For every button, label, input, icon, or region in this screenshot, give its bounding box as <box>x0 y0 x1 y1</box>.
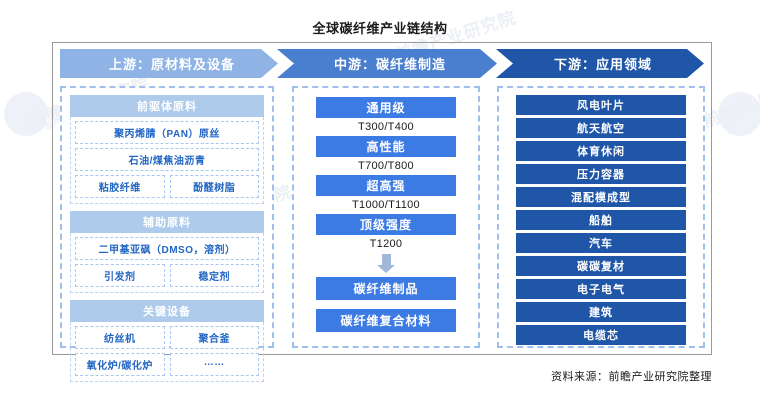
stage-header-row: 上游：原材料及设备 中游：碳纤维制造 下游：应用领域 <box>60 49 705 78</box>
list-item[interactable]: 聚合釜 <box>170 326 260 349</box>
midstream-column: 通用级 T300/T400 高性能 T700/T800 超高强 T1000/T1… <box>292 86 480 348</box>
grade-code: T1000/T1100 <box>316 196 456 214</box>
list-item[interactable]: 电子电气 <box>516 279 686 299</box>
list-item[interactable]: 汽车 <box>516 233 686 253</box>
list-row: 引发剂 稳定剂 <box>75 264 259 287</box>
source-note: 资料来源：前瞻产业研究院整理 <box>551 368 712 384</box>
group-body: 纺丝机 聚合釜 氧化炉/碳化炉 …… <box>70 322 264 382</box>
list-item[interactable]: 船舶 <box>516 210 686 230</box>
downstream-list: 风电叶片 航天航空 体育休闲 压力容器 混配模成型 船舶 汽车 碳碳复材 电子电… <box>499 88 703 345</box>
group-header: 前驱体原料 <box>70 95 264 117</box>
product-bar[interactable]: 碳纤维复合材料 <box>316 309 456 332</box>
list-item[interactable]: 压力容器 <box>516 164 686 184</box>
list-item[interactable]: 酚醛树脂 <box>170 175 260 198</box>
list-item[interactable]: 混配模成型 <box>516 187 686 207</box>
page-title: 全球碳纤维产业链结构 <box>0 18 760 37</box>
list-item[interactable]: 建筑 <box>516 302 686 322</box>
grade-code: T1200 <box>316 235 456 253</box>
grade-bar[interactable]: 通用级 <box>316 97 456 118</box>
downstream-column: 风电叶片 航天航空 体育休闲 压力容器 混配模成型 船舶 汽车 碳碳复材 电子电… <box>497 86 705 348</box>
list-item[interactable]: 航天航空 <box>516 118 686 138</box>
upstream-group-precursor: 前驱体原料 聚丙烯腈（PAN）原丝 石油/煤焦油沥青 粘胶纤维 酚醛树脂 <box>70 95 264 204</box>
list-item[interactable]: 粘胶纤维 <box>75 175 165 198</box>
list-item[interactable]: 聚丙烯腈（PAN）原丝 <box>75 121 259 144</box>
list-row: 氧化炉/碳化炉 …… <box>75 353 259 376</box>
stage-header-upstream-label: 上游：原材料及设备 <box>103 54 235 73</box>
watermark-ring-right <box>718 92 760 136</box>
stage-header-upstream[interactable]: 上游：原材料及设备 <box>60 49 278 78</box>
stage-header-downstream-label: 下游：应用领域 <box>548 54 652 73</box>
list-item[interactable]: 二甲基亚砜（DMSO，溶剂） <box>75 237 259 260</box>
list-item[interactable]: 氧化炉/碳化炉 <box>75 353 165 376</box>
upstream-column: 前驱体原料 聚丙烯腈（PAN）原丝 石油/煤焦油沥青 粘胶纤维 酚醛树脂 辅助原… <box>60 86 274 348</box>
upstream-group-equipment: 关键设备 纺丝机 聚合釜 氧化炉/碳化炉 …… <box>70 300 264 382</box>
list-item[interactable]: 体育休闲 <box>516 141 686 161</box>
list-item[interactable]: 风电叶片 <box>516 95 686 115</box>
list-row: 纺丝机 聚合釜 <box>75 326 259 353</box>
columns-container: 前驱体原料 聚丙烯腈（PAN）原丝 石油/煤焦油沥青 粘胶纤维 酚醛树脂 辅助原… <box>60 86 705 348</box>
arrow-down-icon <box>316 253 456 268</box>
list-item[interactable]: …… <box>170 353 260 376</box>
list-item[interactable]: 纺丝机 <box>75 326 165 349</box>
grade-code: T700/T800 <box>316 157 456 175</box>
stage-header-midstream-label: 中游：碳纤维制造 <box>328 54 446 73</box>
grade-code: T300/T400 <box>316 118 456 136</box>
stage-header-midstream[interactable]: 中游：碳纤维制造 <box>277 49 497 78</box>
list-row: 粘胶纤维 酚醛树脂 <box>75 175 259 198</box>
stage-header-downstream[interactable]: 下游：应用领域 <box>496 49 704 78</box>
watermark-ring-left <box>4 92 48 136</box>
group-header: 关键设备 <box>70 300 264 322</box>
list-item[interactable]: 引发剂 <box>75 264 165 287</box>
list-item[interactable]: 稳定剂 <box>170 264 260 287</box>
group-body: 聚丙烯腈（PAN）原丝 石油/煤焦油沥青 粘胶纤维 酚醛树脂 <box>70 117 264 204</box>
midstream-grades: 通用级 T300/T400 高性能 T700/T800 超高强 T1000/T1… <box>294 88 478 332</box>
grade-bar[interactable]: 高性能 <box>316 136 456 157</box>
grade-bar[interactable]: 顶级强度 <box>316 214 456 235</box>
group-header: 辅助原料 <box>70 211 264 233</box>
group-body: 二甲基亚砜（DMSO，溶剂） 引发剂 稳定剂 <box>70 233 264 293</box>
upstream-group-auxiliary: 辅助原料 二甲基亚砜（DMSO，溶剂） 引发剂 稳定剂 <box>70 211 264 293</box>
list-item[interactable]: 石油/煤焦油沥青 <box>75 148 259 171</box>
list-item[interactable]: 碳碳复材 <box>516 256 686 276</box>
product-bar[interactable]: 碳纤维制品 <box>316 277 456 300</box>
list-item[interactable]: 电缆芯 <box>516 325 686 345</box>
grade-bar[interactable]: 超高强 <box>316 175 456 196</box>
